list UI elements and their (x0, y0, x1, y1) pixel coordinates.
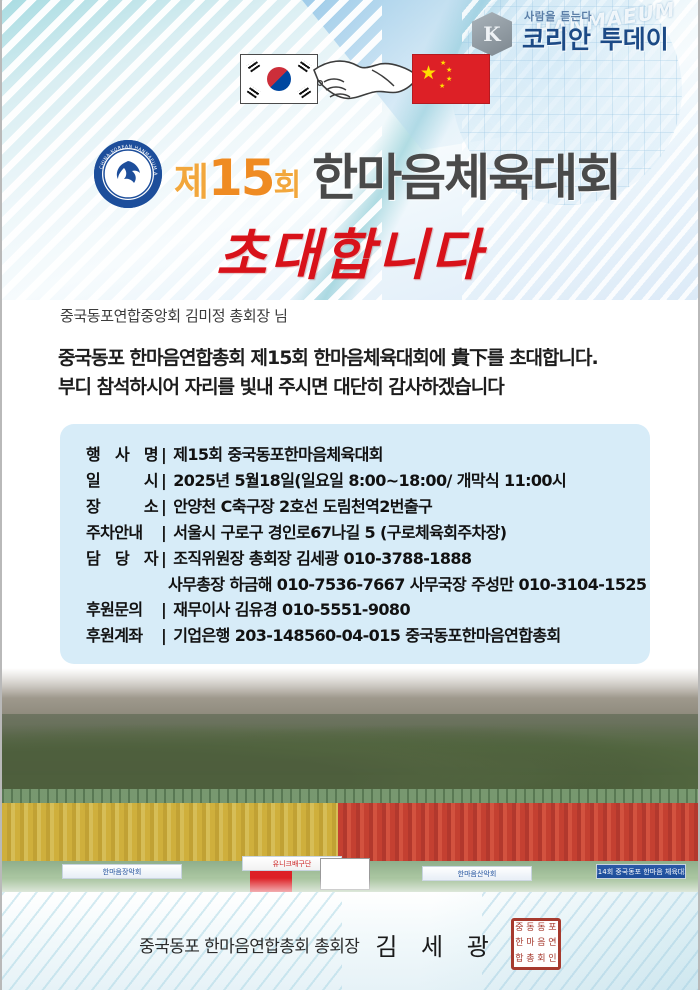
event-detail-separator: | (161, 597, 166, 623)
photo-banner: 제14회 중국동포 한마음 체육대회 (596, 864, 686, 879)
star-icon: ★ (420, 64, 437, 83)
event-detail-separator: | (161, 546, 166, 572)
china-flag-icon: ★ ★ ★ ★ ★ (412, 54, 490, 104)
event-detail-label: 일시 (86, 468, 158, 494)
stamp-character: 총 (525, 952, 536, 967)
title-suffix: 회 (274, 168, 301, 203)
event-detail-label: 행사명 (86, 442, 158, 468)
event-detail-value: 2025년 5월18일(일요일 8:00~18:00/ 개막식 11:00시 (173, 468, 566, 494)
event-details-rows: 행사명|제15회 중국동포한마음체육대회일시|2025년 5월18일(일요일 8… (86, 442, 650, 649)
association-seal-ring-text: CHINA-KOREAN HANMAEUM ASSOCIATION (94, 140, 162, 208)
event-details-box: 행사명|제15회 중국동포한마음체육대회일시|2025년 5월18일(일요일 8… (60, 424, 650, 664)
invitation-poster: HANMAEUM K 사람을 듣는다 코리안 투데이 ★ (0, 0, 700, 990)
event-detail-label: 담당자 (86, 546, 158, 572)
star-icon: ★ (446, 76, 452, 83)
star-icon: ★ (439, 83, 445, 90)
photo-crowd (2, 803, 700, 863)
event-detail-label: 후원문의 (86, 597, 158, 623)
event-detail-value: 조직위원장 총회장 김세광 010-3788-1888 (173, 546, 471, 572)
official-seal-stamp: 중동동포한마음연합총회인 (511, 918, 561, 970)
handshake-icon (310, 50, 422, 108)
event-detail-row: 후원계좌|기업은행 203-148560-04-015 중국동포한마음연합총회 (86, 623, 650, 649)
recipient-line: 중국동포연합중앙회 김미정 총회장 님 (60, 305, 288, 326)
invitation-paragraph-line-1: 중국동포 한마음연합총회 제15회 한마음체육대회에 貴下를 초대합니다. (58, 344, 658, 373)
photo-top-fade (2, 668, 700, 698)
stamp-character: 연 (547, 936, 558, 951)
korea-flag-icon (240, 54, 318, 104)
korean-today-logo[interactable]: K 사람을 듣는다 코리안 투데이 (472, 8, 697, 58)
event-detail-value: 기업은행 203-148560-04-015 중국동포한마음연합총회 (173, 623, 560, 649)
event-detail-value: 서울시 구로구 경인로67나길 5 (구로체육회주차장) (173, 520, 506, 546)
stamp-character: 인 (547, 952, 558, 967)
event-detail-label: 주차안내 (86, 520, 158, 546)
stamp-character: 동 (525, 921, 536, 936)
trigram-icon (247, 60, 261, 73)
stamp-character: 합 (514, 952, 525, 967)
group-photo: 한마음장악회 유니크배구단 한마음산악회 제14회 중국동포 한마음 체육대회 (2, 668, 700, 900)
star-icon: ★ (446, 67, 452, 74)
event-detail-row: 사무총장 하금해 010-7536-7667 사무국장 주성만 010-3104… (86, 572, 650, 598)
event-detail-value: 재무이사 김유경 010-5551-9080 (173, 597, 410, 623)
signature-name: 김 세 광 (375, 927, 497, 962)
stamp-character: 마 (525, 936, 536, 951)
signature-organization: 중국동포 한마음연합총회 총회장 (139, 932, 359, 957)
event-detail-row: 주차안내|서울시 구로구 경인로67나길 5 (구로체육회주차장) (86, 520, 650, 546)
event-detail-value: 사무총장 하금해 010-7536-7667 사무국장 주성만 010-3104… (86, 572, 646, 598)
flags-handshake-graphic: ★ ★ ★ ★ ★ (240, 48, 490, 110)
taeguk-symbol-icon (267, 67, 291, 91)
event-detail-separator: | (161, 520, 166, 546)
photo-banner: 한마음장악회 (62, 864, 182, 879)
event-detail-row: 일시|2025년 5월18일(일요일 8:00~18:00/ 개막식 11:00… (86, 468, 650, 494)
title-main-text: 한마음체육대회 (312, 149, 620, 207)
event-detail-separator: | (161, 494, 166, 520)
event-detail-row: 장소|안양천 C축구장 2호선 도림천역2번출구 (86, 494, 650, 520)
association-seal-logo: CHINA-KOREAN HANMAEUM ASSOCIATION (94, 140, 162, 208)
korean-today-name: 코리안 투데이 (522, 20, 669, 56)
stamp-character: 회 (536, 952, 547, 967)
stamp-character: 동 (536, 921, 547, 936)
event-detail-separator: | (161, 468, 166, 494)
stamp-character: 한 (514, 936, 525, 951)
stamp-character: 중 (514, 921, 525, 936)
signature-block: 중국동포 한마음연합총회 총회장 김 세 광 중동동포한마음연합총회인 (2, 918, 698, 970)
event-detail-label: 후원계좌 (86, 623, 158, 649)
title-prefix: 제 (174, 160, 208, 204)
trigram-icon (247, 86, 261, 99)
event-detail-label: 장소 (86, 494, 158, 520)
event-detail-separator: | (161, 623, 166, 649)
event-detail-row: 담당자|조직위원장 총회장 김세광 010-3788-1888 (86, 546, 650, 572)
invitation-paragraph-line-2: 부디 참석하시어 자리를 빛내 주시면 대단히 감사하겠습니다 (58, 373, 658, 402)
event-detail-value: 안양천 C축구장 2호선 도림천역2번출구 (173, 494, 432, 520)
title-edition-number: 15 (208, 149, 274, 207)
event-title: 제15회한마음체육대회 (174, 138, 620, 210)
invitation-script-text: 초대합니다 (2, 210, 698, 290)
event-detail-row: 행사명|제15회 중국동포한마음체육대회 (86, 442, 650, 468)
event-detail-separator: | (161, 442, 166, 468)
stamp-character: 음 (536, 936, 547, 951)
event-detail-row: 후원문의|재무이사 김유경 010-5551-9080 (86, 597, 650, 623)
stamp-character: 포 (547, 921, 558, 936)
invitation-paragraph: 중국동포 한마음연합총회 제15회 한마음체육대회에 貴下를 초대합니다. 부디… (58, 344, 658, 402)
event-detail-value: 제15회 중국동포한마음체육대회 (173, 442, 383, 468)
